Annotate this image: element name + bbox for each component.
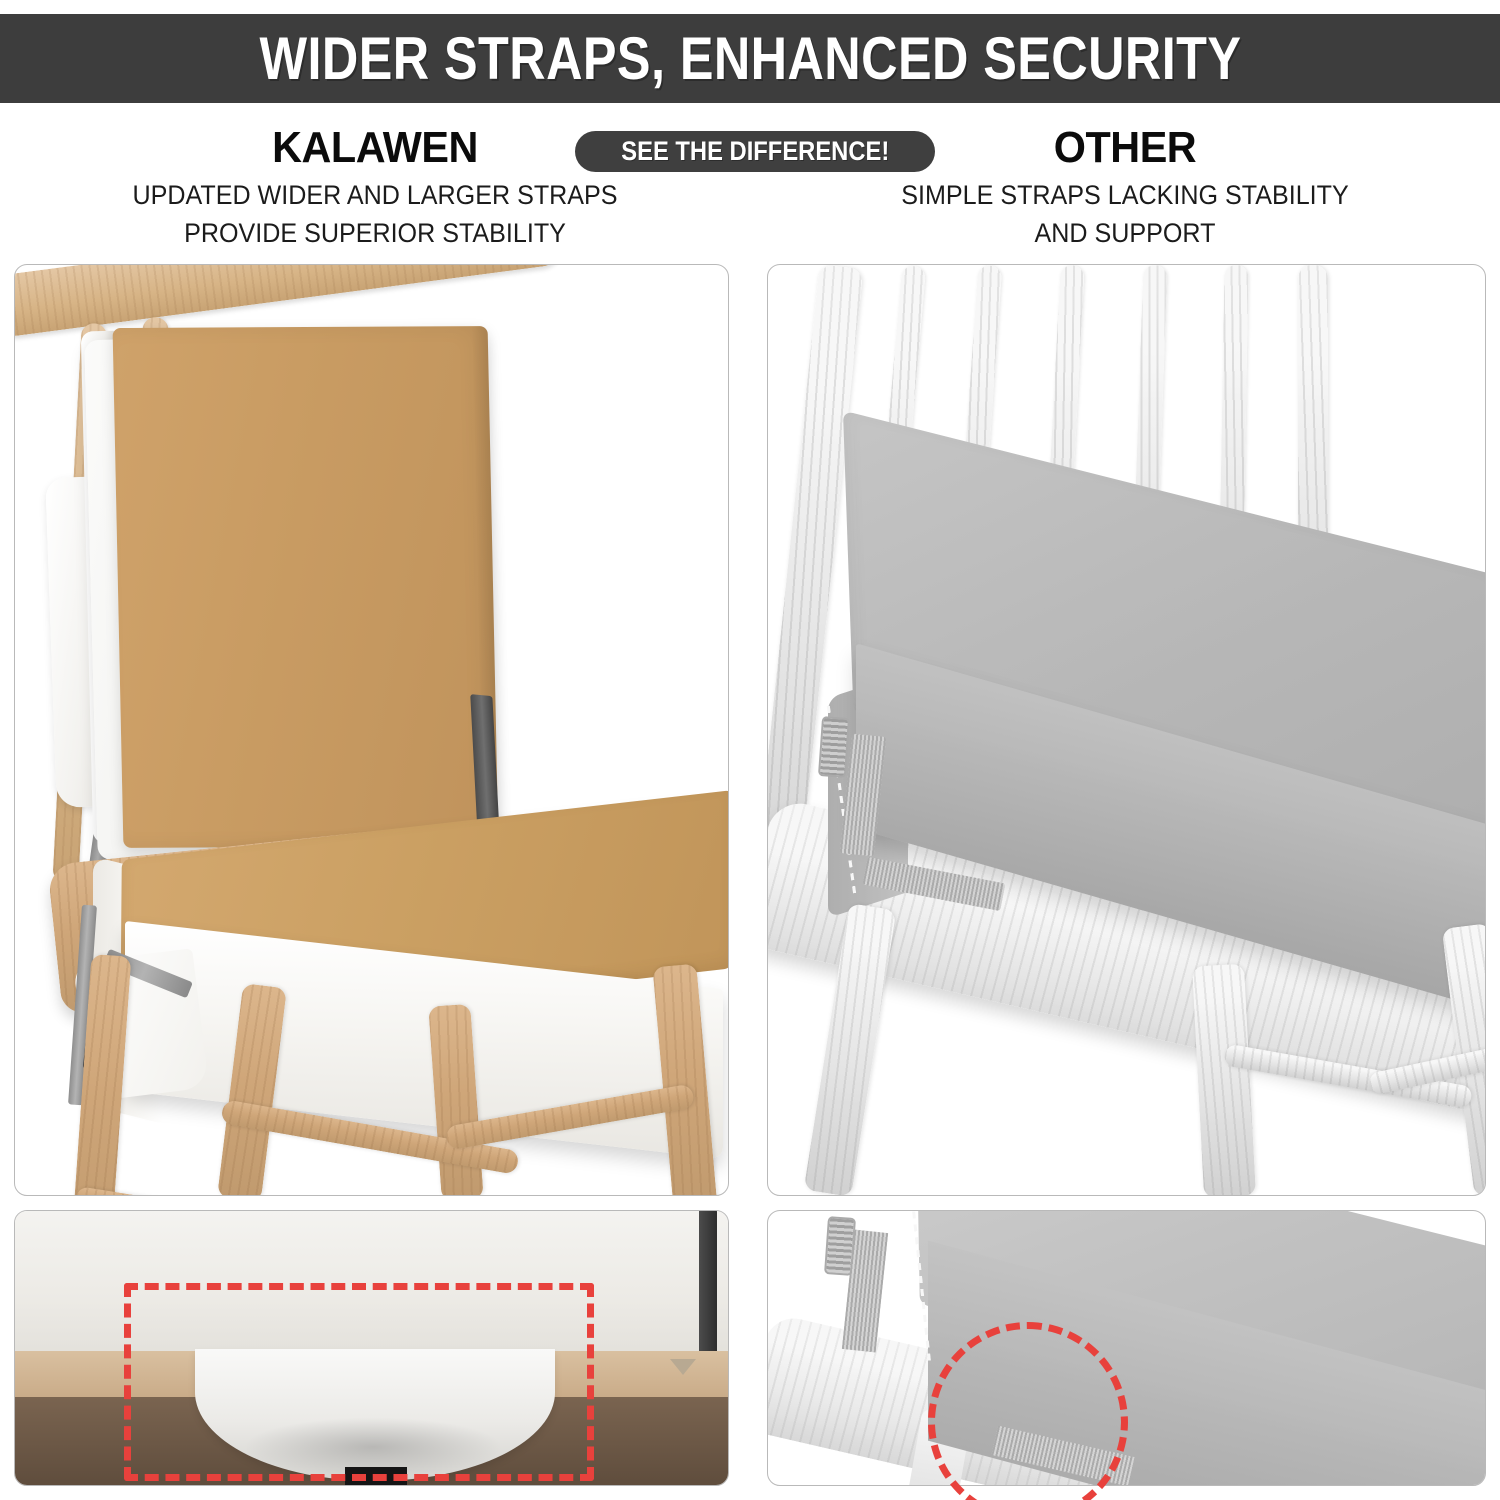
panel-other-detail (767, 1210, 1486, 1486)
header-banner: WIDER STRAPS, ENHANCED SECURITY (0, 14, 1500, 103)
panel-other-main (767, 264, 1486, 1196)
left-column-heading: KALAWEN UPDATED WIDER AND LARGER STRAPS … (0, 108, 750, 250)
highlight-rectangle-wide-strap (124, 1283, 594, 1481)
other-chair-photo (768, 265, 1485, 1195)
side-strap-edge (699, 1211, 717, 1351)
right-column-heading: OTHER SIMPLE STRAPS LACKING STABILITY AN… (750, 108, 1500, 250)
left-subtitle-line1: UPDATED WIDER AND LARGER STRAPS (26, 178, 724, 212)
strap-tip-triangle (670, 1359, 696, 1375)
right-subtitle-line1: SIMPLE STRAPS LACKING STABILITY (776, 178, 1474, 212)
see-the-difference-badge: SEE THE DIFFERENCE! (575, 131, 935, 172)
left-subtitle-line2: PROVIDE SUPERIOR STABILITY (26, 216, 724, 250)
banner-title: WIDER STRAPS, ENHANCED SECURITY (259, 24, 1241, 93)
backrest-tan-cushion (113, 326, 499, 848)
panel-kalawen-main (14, 264, 729, 1196)
comparison-infographic: WIDER STRAPS, ENHANCED SECURITY KALAWEN … (0, 0, 1500, 1500)
narrow-strap-closeup-photo (768, 1211, 1485, 1485)
strap-buckle (818, 716, 850, 778)
right-subtitle-line2: AND SUPPORT (776, 216, 1474, 250)
kalawen-chair-photo (15, 265, 728, 1195)
badge-label: SEE THE DIFFERENCE! (621, 136, 889, 167)
